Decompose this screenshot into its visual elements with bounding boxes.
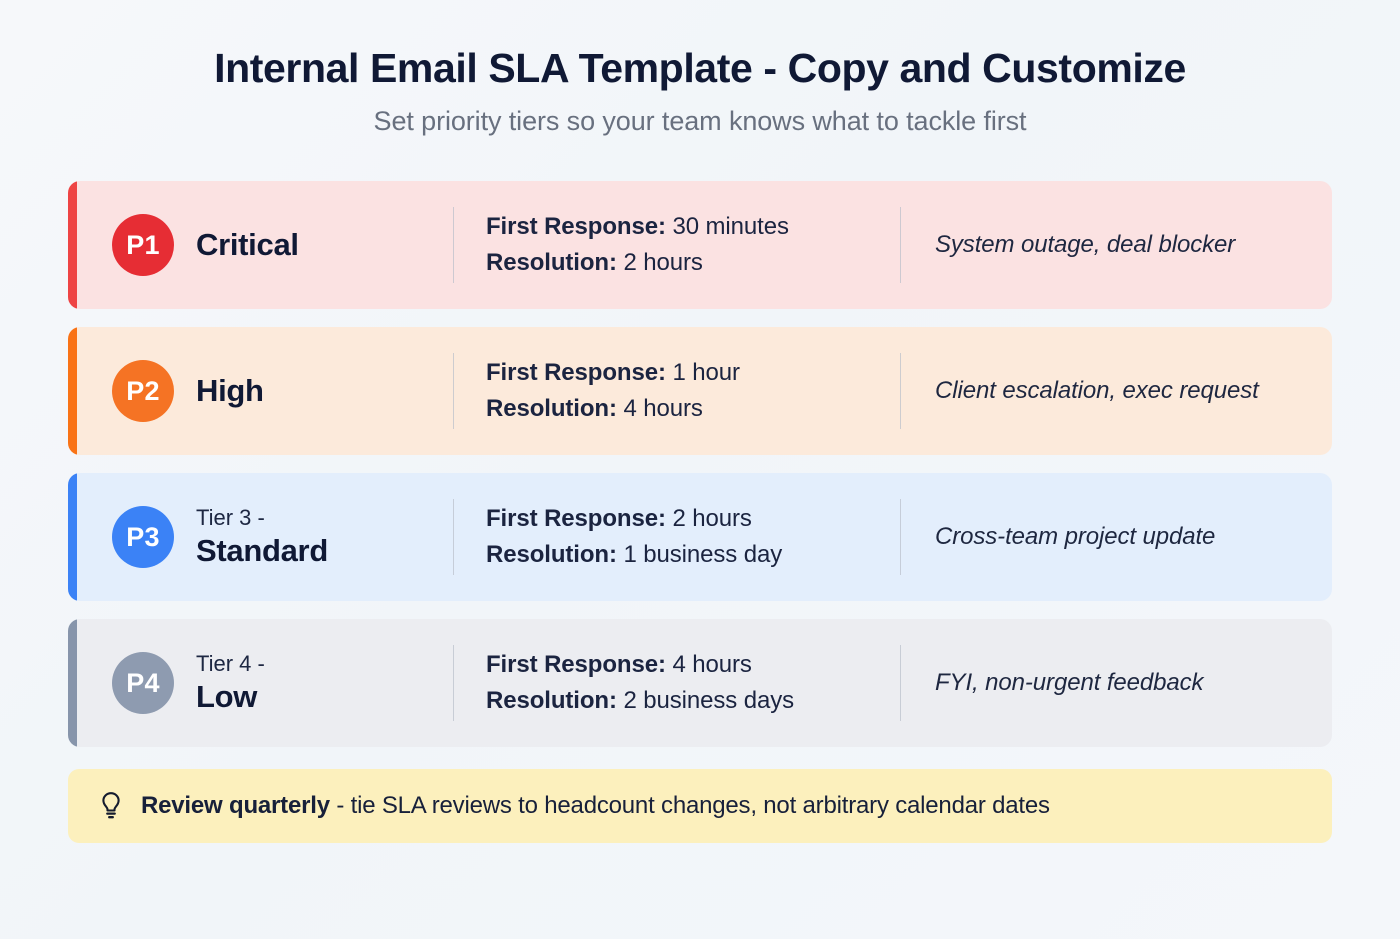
resolution-value: 4 hours (623, 395, 702, 422)
tier-row: P1 Critical First Response: 30 minutes R… (68, 181, 1332, 309)
tier-example: FYI, non-urgent feedback (901, 619, 1332, 747)
column-divider (900, 353, 901, 429)
column-divider (900, 207, 901, 283)
tier-accent-bar (68, 181, 77, 309)
tier-prefix: Tier 4 - (196, 651, 265, 677)
tier-accent-bar (68, 473, 77, 601)
resolution-value: 2 hours (623, 249, 702, 276)
first-response-line: First Response: 4 hours (486, 651, 900, 679)
first-response-line: First Response: 30 minutes (486, 213, 900, 241)
first-response-value: 4 hours (672, 651, 751, 678)
tier-identity: P1 Critical (77, 181, 453, 309)
resolution-label: Resolution: (486, 395, 617, 422)
resolution-value: 1 business day (623, 541, 782, 568)
resolution-label: Resolution: (486, 249, 617, 276)
tier-example: Cross-team project update (901, 473, 1332, 601)
example-text: System outage, deal blocker (935, 231, 1235, 259)
first-response-value: 30 minutes (672, 213, 788, 240)
example-text: Client escalation, exec request (935, 377, 1259, 405)
tier-accent-bar (68, 619, 77, 747)
tier-name: Critical (196, 227, 299, 264)
tier-badge: P3 (112, 506, 174, 568)
tier-badge: P4 (112, 652, 174, 714)
tier-badge: P2 (112, 360, 174, 422)
column-divider (453, 645, 454, 721)
first-response-label: First Response: (486, 505, 666, 532)
tier-row: P4 Tier 4 - Low First Response: 4 hours … (68, 619, 1332, 747)
tier-name: High (196, 373, 264, 410)
tier-prefix: Tier 3 - (196, 505, 328, 531)
footer-text: Review quarterly - tie SLA reviews to he… (141, 792, 1050, 820)
column-divider (453, 207, 454, 283)
resolution-line: Resolution: 2 hours (486, 249, 900, 277)
first-response-line: First Response: 1 hour (486, 359, 900, 387)
tier-sla: First Response: 30 minutes Resolution: 2… (454, 181, 900, 309)
first-response-label: First Response: (486, 213, 666, 240)
tier-name: Standard (196, 533, 328, 570)
resolution-value: 2 business days (623, 687, 794, 714)
footer-note: Review quarterly - tie SLA reviews to he… (68, 769, 1332, 843)
header: Internal Email SLA Template - Copy and C… (68, 44, 1332, 147)
example-text: Cross-team project update (935, 523, 1215, 551)
tier-badge: P1 (112, 214, 174, 276)
tier-sla: First Response: 2 hours Resolution: 1 bu… (454, 473, 900, 601)
column-divider (900, 499, 901, 575)
tier-list: P1 Critical First Response: 30 minutes R… (68, 181, 1332, 747)
tier-accent-bar (68, 327, 77, 455)
first-response-label: First Response: (486, 359, 666, 386)
page-title: Internal Email SLA Template - Copy and C… (68, 44, 1332, 92)
tier-example: System outage, deal blocker (901, 181, 1332, 309)
tier-names: Tier 4 - Low (196, 651, 265, 716)
tier-names: Tier 3 - Standard (196, 505, 328, 570)
first-response-label: First Response: (486, 651, 666, 678)
resolution-line: Resolution: 2 business days (486, 687, 900, 715)
page-subtitle: Set priority tiers so your team knows wh… (68, 106, 1332, 137)
tier-row: P2 High First Response: 1 hour Resolutio… (68, 327, 1332, 455)
first-response-line: First Response: 2 hours (486, 505, 900, 533)
first-response-value: 2 hours (672, 505, 751, 532)
resolution-line: Resolution: 1 business day (486, 541, 900, 569)
tier-names: High (196, 373, 264, 410)
tier-identity: P3 Tier 3 - Standard (77, 473, 453, 601)
tier-identity: P4 Tier 4 - Low (77, 619, 453, 747)
sla-template-page: Internal Email SLA Template - Copy and C… (0, 0, 1400, 939)
tier-example: Client escalation, exec request (901, 327, 1332, 455)
tier-name: Low (196, 679, 265, 716)
resolution-label: Resolution: (486, 541, 617, 568)
tier-row: P3 Tier 3 - Standard First Response: 2 h… (68, 473, 1332, 601)
tier-sla: First Response: 4 hours Resolution: 2 bu… (454, 619, 900, 747)
lightbulb-icon (98, 791, 124, 821)
footer-rest-text: - tie SLA reviews to headcount changes, … (330, 792, 1050, 819)
resolution-label: Resolution: (486, 687, 617, 714)
tier-sla: First Response: 1 hour Resolution: 4 hou… (454, 327, 900, 455)
tier-identity: P2 High (77, 327, 453, 455)
column-divider (453, 353, 454, 429)
resolution-line: Resolution: 4 hours (486, 395, 900, 423)
column-divider (900, 645, 901, 721)
footer-strong-text: Review quarterly (141, 792, 330, 819)
example-text: FYI, non-urgent feedback (935, 669, 1203, 697)
first-response-value: 1 hour (672, 359, 739, 386)
tier-names: Critical (196, 227, 299, 264)
column-divider (453, 499, 454, 575)
